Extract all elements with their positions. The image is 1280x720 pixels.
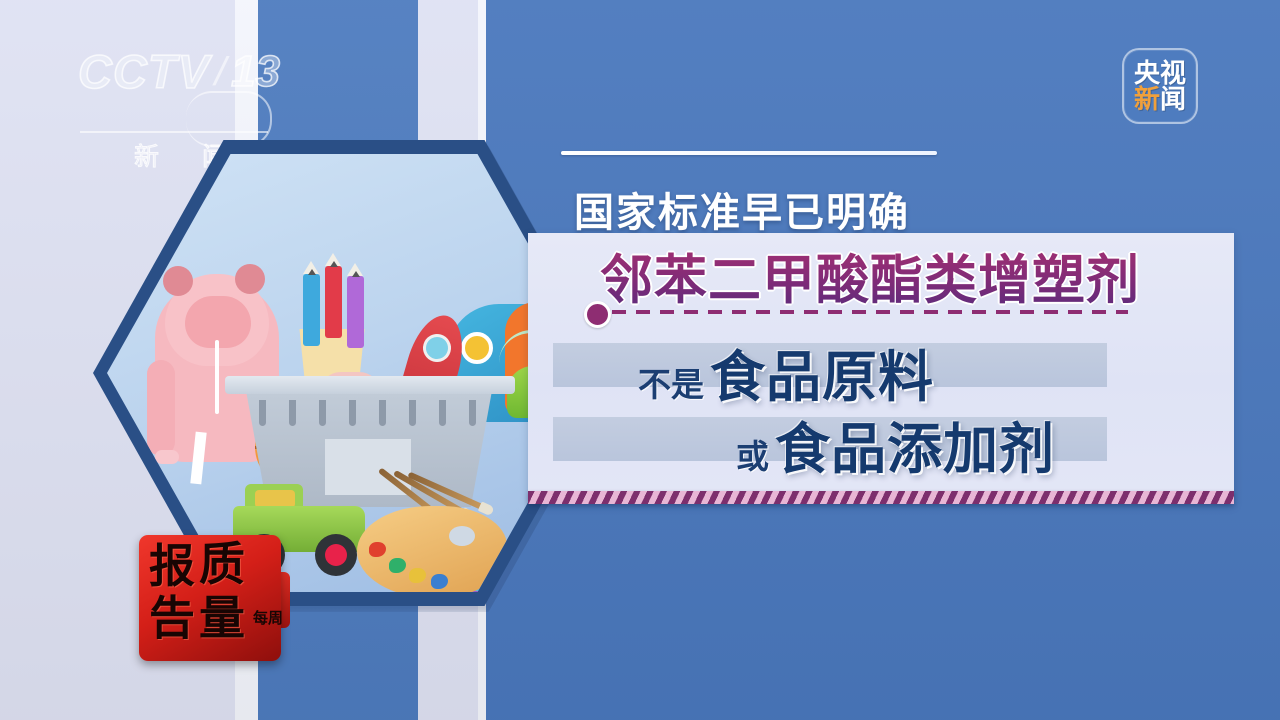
truck-wheel-rear xyxy=(315,534,357,576)
seal-char-4: 量 xyxy=(199,596,245,642)
bear-ear-right-icon xyxy=(235,264,265,294)
bin-slot-2 xyxy=(289,400,296,426)
divider-bullet-icon xyxy=(584,301,611,328)
graphic-headline: 邻苯二甲酸酯类增塑剂 xyxy=(600,252,1140,310)
bear-ear-left-icon xyxy=(163,266,193,296)
cctv-news-app-badge: 央视 新 闻 xyxy=(1122,48,1198,124)
bin-slot-3 xyxy=(319,400,326,426)
seal-characters: 报 质 告 量 每周 xyxy=(151,546,269,650)
line2-prefix: 或 xyxy=(736,430,769,478)
hoodie-zipper-shape xyxy=(215,340,219,414)
cctv-slash-icon: / xyxy=(210,50,231,95)
seal-char-2: 质 xyxy=(199,542,245,588)
line2-main: 食品添加剂 xyxy=(775,404,1055,484)
pencil-red-icon xyxy=(325,266,342,338)
bin-slot-1 xyxy=(259,400,266,426)
seal-char-1: 报 xyxy=(149,544,195,590)
palette-thumb-hole xyxy=(449,526,475,546)
badge-text-xin: 新 xyxy=(1134,86,1160,112)
cctv-wordmark: CCTV xyxy=(78,48,210,96)
graphic-heading: 国家标准早已明确 xyxy=(574,180,910,238)
bin-slot-5 xyxy=(379,400,386,426)
dotted-divider xyxy=(612,310,1128,314)
broadcast-frame: CCTV / 13 新 闻 央视 新 闻 xyxy=(0,0,1280,720)
program-seal-logo: 报 质 告 量 每周 xyxy=(139,535,281,661)
seal-char-3: 告 xyxy=(149,596,195,642)
badge-text-yangshi: 央视 xyxy=(1134,60,1186,86)
pencil-blue-icon xyxy=(303,274,320,346)
hoodie-sleeve-shape xyxy=(147,360,175,456)
seal-corner-text: 每周 xyxy=(253,608,283,654)
cctv-channel-number: 13 xyxy=(231,47,280,97)
bin-slot-4 xyxy=(349,400,356,426)
badge-line-2: 新 闻 xyxy=(1134,86,1186,112)
badge-line-1: 央视 xyxy=(1134,60,1186,86)
bin-slot-7 xyxy=(439,400,446,426)
panel-bottom-stripe xyxy=(528,491,1234,504)
xylo-key-4 xyxy=(509,575,524,591)
line1-prefix: 不是 xyxy=(638,358,704,406)
pencil-purple-icon xyxy=(347,276,364,348)
cctv13-channel-logo: CCTV / 13 新 闻 xyxy=(78,47,278,133)
heading-rule xyxy=(561,151,937,155)
toy-bin-rim xyxy=(225,376,515,394)
badge-text-wen: 闻 xyxy=(1160,86,1186,112)
hoodie-cuff-shape xyxy=(155,450,179,464)
statement-line-1: 不是 食品原料 xyxy=(638,332,934,412)
bin-slot-8 xyxy=(469,400,476,426)
backpack-badge-icon xyxy=(461,332,493,364)
bin-slot-6 xyxy=(409,400,416,426)
statement-line-2: 或 食品添加剂 xyxy=(736,404,1055,484)
cctv-underline xyxy=(80,131,268,133)
line1-main: 食品原料 xyxy=(710,332,934,412)
